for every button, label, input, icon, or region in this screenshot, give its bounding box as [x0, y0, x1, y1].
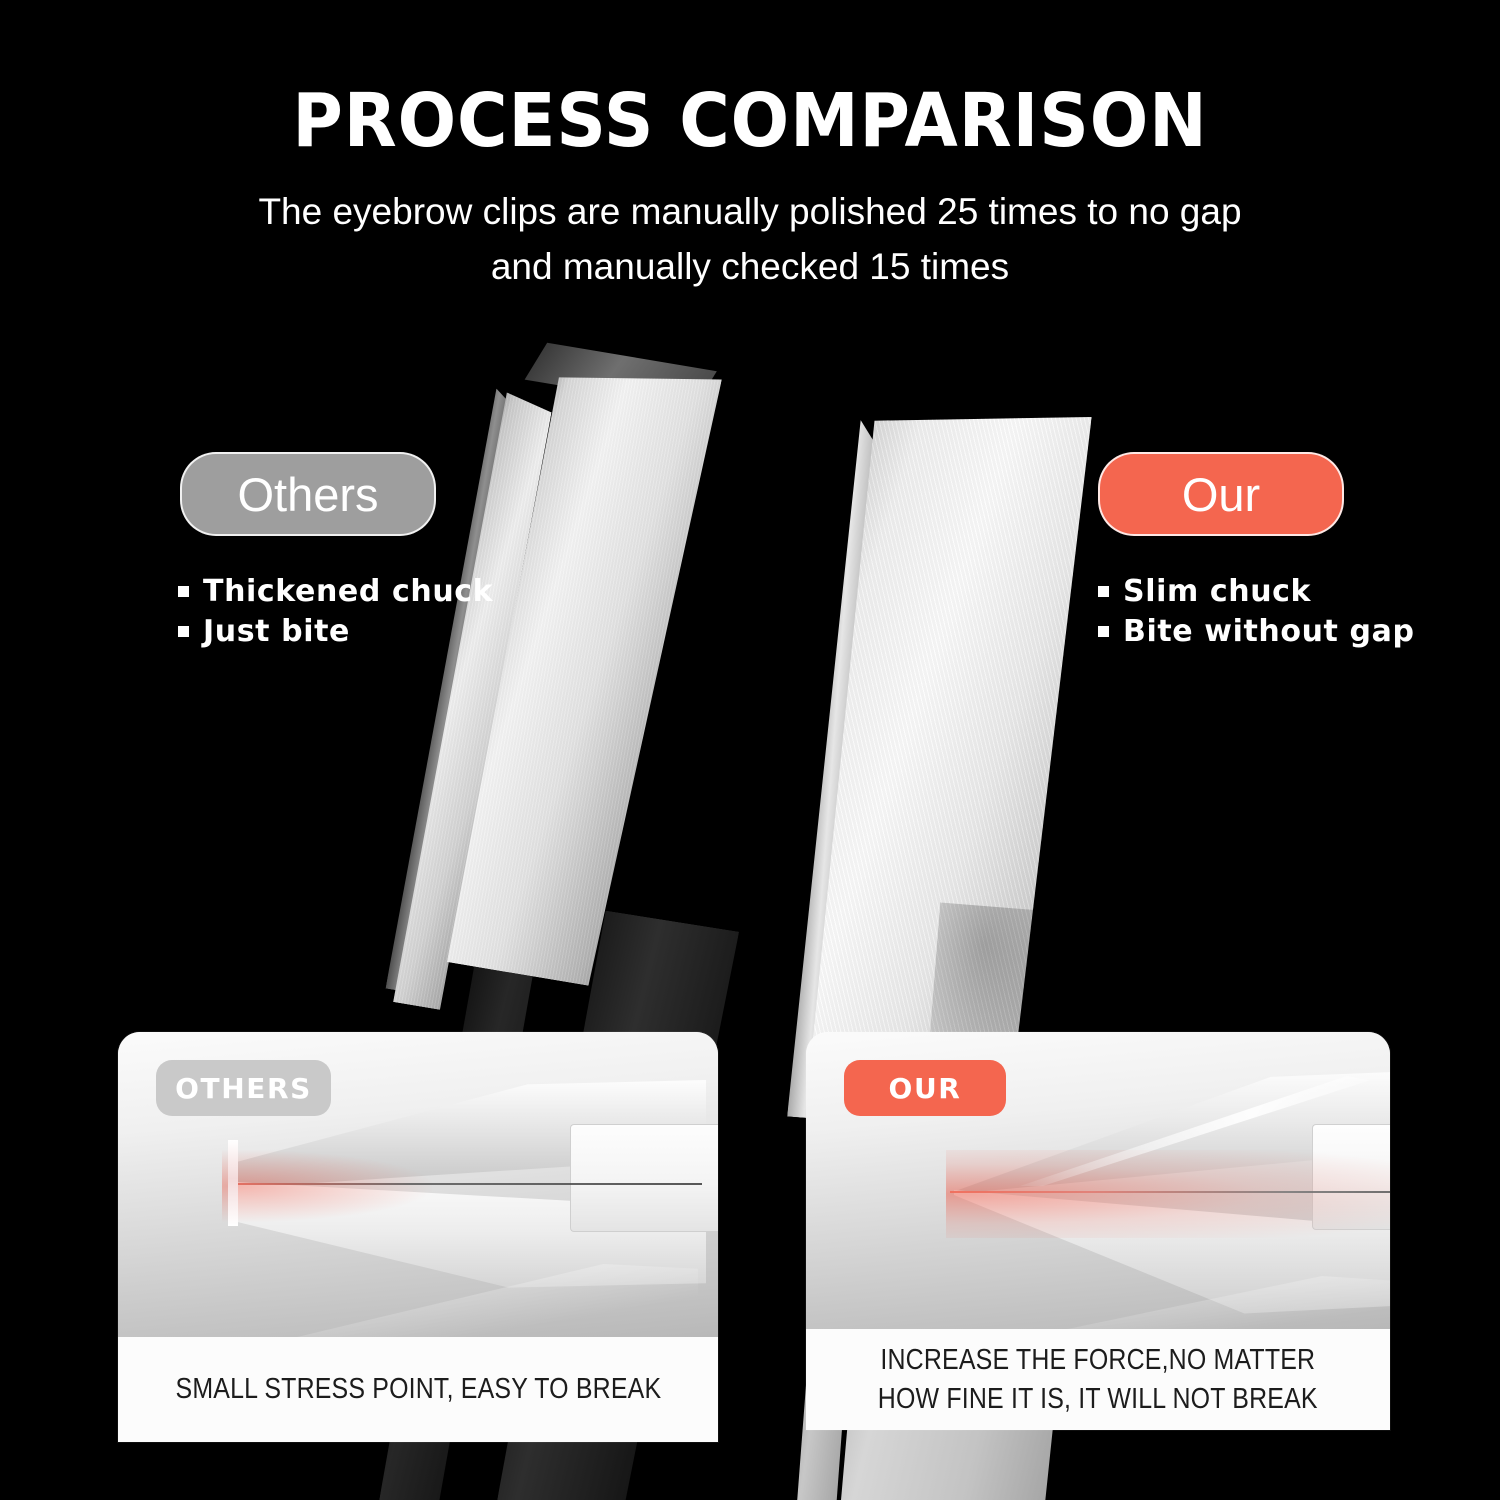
our-force-glow	[946, 1150, 1390, 1238]
subtitle-line-2: and manually checked 15 times	[160, 240, 1340, 295]
our-feature-list: Slim chuck Bite without gap	[1098, 572, 1415, 651]
our-detail-card: OUR INCREASE THE FORCE,NO MATTER HOW FIN…	[806, 1032, 1390, 1430]
card-badge-others: OTHERS	[156, 1060, 331, 1116]
others-caption-line-1: SMALL STRESS POINT, EASY TO BREAK	[175, 1370, 661, 1408]
bullet-square-icon	[178, 626, 189, 637]
list-item: Slim chuck	[1098, 572, 1415, 612]
others-bullet-1: Just bite	[203, 612, 350, 652]
list-item: Bite without gap	[1098, 612, 1415, 652]
others-tip-seam	[232, 1183, 702, 1185]
others-blunt-tip	[228, 1140, 238, 1226]
card-badge-our: OUR	[844, 1060, 1006, 1116]
label-pill-our: Our	[1098, 452, 1344, 536]
others-stress-glow	[222, 1150, 432, 1222]
others-feature-list: Thickened chuck Just bite	[178, 572, 493, 651]
our-card-caption: INCREASE THE FORCE,NO MATTER HOW FINE IT…	[806, 1329, 1390, 1430]
others-bullet-0: Thickened chuck	[203, 572, 493, 612]
bullet-square-icon	[1098, 626, 1109, 637]
others-card-caption: SMALL STRESS POINT, EASY TO BREAK	[118, 1337, 718, 1442]
bullet-square-icon	[178, 586, 189, 597]
others-tip-shank	[570, 1124, 718, 1232]
our-bullet-0: Slim chuck	[1123, 572, 1311, 612]
bullet-square-icon	[1098, 586, 1109, 597]
our-caption-line-1: INCREASE THE FORCE,NO MATTER	[881, 1341, 1316, 1379]
page-title: PROCESS COMPARISON	[53, 78, 1448, 164]
others-detail-card: OTHERS SMALL STRESS POINT, EASY TO BREAK	[118, 1032, 718, 1442]
subtitle-line-1: The eyebrow clips are manually polished …	[160, 185, 1340, 240]
our-bullet-1: Bite without gap	[1123, 612, 1415, 652]
our-caption-line-2: HOW FINE IT IS, IT WILL NOT BREAK	[878, 1380, 1318, 1418]
infographic-canvas: PROCESS COMPARISON The eyebrow clips are…	[0, 0, 1500, 1500]
label-pill-others: Others	[180, 452, 436, 536]
our-tip-seam	[950, 1191, 1390, 1193]
list-item: Just bite	[178, 612, 493, 652]
list-item: Thickened chuck	[178, 572, 493, 612]
page-subtitle: The eyebrow clips are manually polished …	[160, 185, 1340, 295]
